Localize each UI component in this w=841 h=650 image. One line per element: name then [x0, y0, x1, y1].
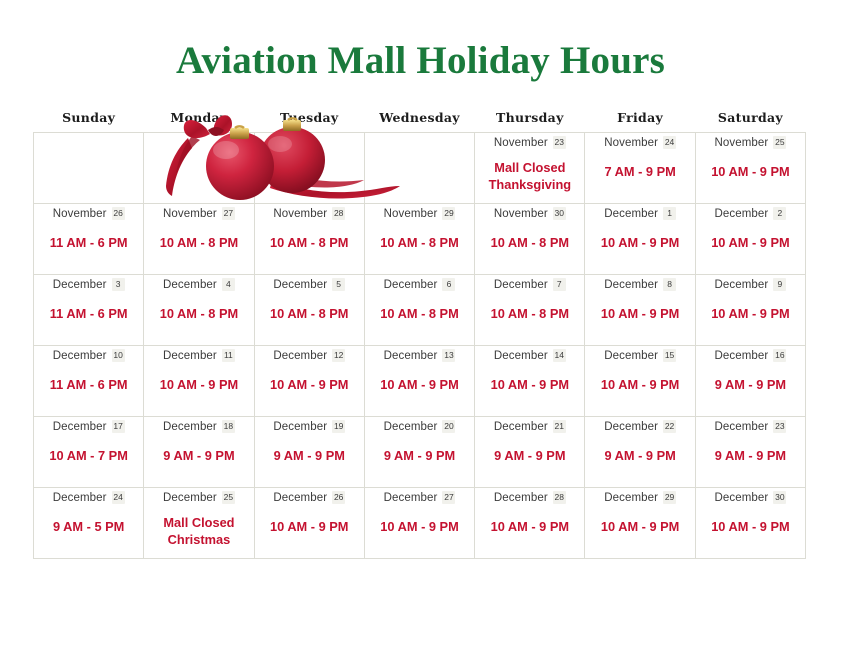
calendar-header: SundayMondayTuesdayWednesdayThursdayFrid…: [34, 110, 806, 133]
day-number-badge: 29: [663, 491, 676, 504]
day-cell-content: December219 AM - 9 PM: [475, 417, 584, 487]
calendar-day-cell: December810 AM - 9 PM: [585, 275, 695, 346]
day-number-badge: 30: [773, 491, 786, 504]
date-label-row: December9: [702, 280, 799, 292]
weekday-header-saturday: Saturday: [695, 110, 805, 133]
day-number-badge: 12: [332, 349, 345, 362]
day-number-badge: 11: [222, 349, 235, 362]
month-name: December: [273, 351, 327, 363]
day-number-badge: 16: [773, 349, 786, 362]
hours-line: 10 AM - 8 PM: [481, 305, 578, 322]
month-name: December: [494, 422, 548, 434]
store-hours: 10 AM - 9 PM: [261, 376, 358, 393]
calendar-day-cell: November2810 AM - 8 PM: [254, 204, 364, 275]
month-name: December: [494, 351, 548, 363]
day-number-badge: 24: [112, 491, 125, 504]
store-hours: 10 AM - 9 PM: [702, 234, 799, 251]
calendar-day-cell: December311 AM - 6 PM: [34, 275, 144, 346]
calendar-day-cell: November2710 AM - 8 PM: [144, 204, 254, 275]
day-number-badge: 23: [773, 420, 786, 433]
closed-notice: Mall ClosedChristmas: [150, 514, 247, 550]
date-label-row: November25: [702, 138, 799, 150]
hours-line: 10 AM - 9 PM: [702, 234, 799, 251]
month-name: December: [163, 351, 217, 363]
month-name: November: [53, 209, 107, 221]
day-cell-content: December1510 AM - 9 PM: [585, 346, 694, 416]
hours-line: 10 AM - 8 PM: [481, 234, 578, 251]
calendar-day-cell: December1110 AM - 9 PM: [144, 346, 254, 417]
day-cell-content: December311 AM - 6 PM: [34, 275, 143, 345]
day-number-badge: 26: [332, 491, 345, 504]
day-number-badge: 27: [222, 207, 235, 220]
closed-notice: Mall ClosedThanksgiving: [481, 159, 578, 195]
day-cell-content: [255, 133, 364, 203]
calendar-day-cell: December1011 AM - 6 PM: [34, 346, 144, 417]
date-label-row: November30: [481, 209, 578, 221]
date-label-row: December7: [481, 280, 578, 292]
day-number-badge: 22: [663, 420, 676, 433]
day-number-badge: 13: [442, 349, 455, 362]
calendar-day-cell: December110 AM - 9 PM: [585, 204, 695, 275]
hours-line: Mall Closed: [481, 159, 578, 177]
date-label-row: December19: [261, 422, 358, 434]
month-name: December: [494, 280, 548, 292]
hours-line: 9 AM - 9 PM: [481, 447, 578, 464]
day-number-badge: 18: [222, 420, 235, 433]
date-label-row: November24: [591, 138, 688, 150]
day-number-badge: 25: [222, 491, 235, 504]
date-label-row: December6: [371, 280, 468, 292]
hours-line: 9 AM - 9 PM: [702, 376, 799, 393]
page-title: Aviation Mall Holiday Hours: [0, 38, 841, 83]
date-label-row: December13: [371, 351, 468, 363]
hours-line: 9 AM - 9 PM: [150, 447, 247, 464]
hours-line: 11 AM - 6 PM: [40, 234, 137, 251]
hours-line: 11 AM - 6 PM: [40, 305, 137, 322]
month-name: November: [273, 209, 327, 221]
hours-line: 10 AM - 9 PM: [261, 376, 358, 393]
day-number-badge: 6: [442, 278, 455, 291]
hours-line: 10 AM - 9 PM: [261, 518, 358, 535]
month-name: December: [604, 280, 658, 292]
store-hours: 10 AM - 8 PM: [371, 234, 468, 251]
hours-line: 10 AM - 9 PM: [371, 518, 468, 535]
store-hours: 9 AM - 9 PM: [702, 447, 799, 464]
month-name: December: [273, 280, 327, 292]
date-label-row: December26: [261, 493, 358, 505]
date-label-row: December11: [150, 351, 247, 363]
hours-line: 10 AM - 9 PM: [481, 518, 578, 535]
weekday-header-tuesday: Tuesday: [254, 110, 364, 133]
calendar-day-cell: December1510 AM - 9 PM: [585, 346, 695, 417]
day-number-badge: 2: [773, 207, 786, 220]
store-hours: 10 AM - 8 PM: [371, 305, 468, 322]
hours-line: 9 AM - 9 PM: [591, 447, 688, 464]
date-label-row: December23: [702, 422, 799, 434]
store-hours: 9 AM - 9 PM: [261, 447, 358, 464]
day-cell-content: December1110 AM - 9 PM: [144, 346, 253, 416]
calendar-week-row: November2611 AM - 6 PMNovember2710 AM - …: [34, 204, 806, 275]
month-name: December: [715, 280, 769, 292]
store-hours: 10 AM - 8 PM: [150, 234, 247, 251]
month-name: December: [273, 493, 327, 505]
day-cell-content: December2710 AM - 9 PM: [365, 488, 474, 558]
day-number-badge: 19: [332, 420, 345, 433]
day-number-badge: 14: [553, 349, 566, 362]
store-hours: 10 AM - 9 PM: [702, 163, 799, 180]
store-hours: 9 AM - 9 PM: [591, 447, 688, 464]
store-hours: 10 AM - 9 PM: [371, 376, 468, 393]
calendar-day-cell: December1410 AM - 9 PM: [475, 346, 585, 417]
month-name: December: [163, 493, 217, 505]
store-hours: 10 AM - 7 PM: [40, 447, 137, 464]
day-number-badge: 17: [112, 420, 125, 433]
day-number-badge: 26: [112, 207, 125, 220]
day-number-badge: 21: [553, 420, 566, 433]
day-cell-content: December209 AM - 9 PM: [365, 417, 474, 487]
calendar-day-cell: December209 AM - 9 PM: [364, 417, 474, 488]
hours-line: 10 AM - 9 PM: [702, 518, 799, 535]
date-label-row: December8: [591, 280, 688, 292]
hours-line: 11 AM - 6 PM: [40, 376, 137, 393]
month-name: December: [273, 422, 327, 434]
calendar-day-cell: December410 AM - 8 PM: [144, 275, 254, 346]
month-name: December: [163, 422, 217, 434]
day-cell-content: December210 AM - 9 PM: [696, 204, 805, 274]
holiday-hours-calendar: SundayMondayTuesdayWednesdayThursdayFrid…: [33, 110, 806, 559]
date-label-row: November29: [371, 209, 468, 221]
hours-line: Thanksgiving: [481, 176, 578, 194]
day-number-badge: 5: [332, 278, 345, 291]
hours-line: 10 AM - 9 PM: [702, 305, 799, 322]
calendar-day-cell: December3010 AM - 9 PM: [695, 488, 805, 559]
store-hours: 10 AM - 9 PM: [481, 376, 578, 393]
day-cell-content: November2810 AM - 8 PM: [255, 204, 364, 274]
calendar-day-cell: December2610 AM - 9 PM: [254, 488, 364, 559]
date-label-row: December14: [481, 351, 578, 363]
store-hours: 10 AM - 9 PM: [591, 234, 688, 251]
hours-line: 10 AM - 8 PM: [150, 234, 247, 251]
store-hours: 10 AM - 9 PM: [702, 518, 799, 535]
day-cell-content: December3010 AM - 9 PM: [696, 488, 805, 558]
day-number-badge: 9: [773, 278, 786, 291]
hours-line: 10 AM - 9 PM: [591, 234, 688, 251]
day-number-badge: 24: [663, 136, 676, 149]
calendar-day-cell: December510 AM - 8 PM: [254, 275, 364, 346]
day-number-badge: 23: [553, 136, 566, 149]
date-label-row: December21: [481, 422, 578, 434]
calendar-body: November23Mall ClosedThanksgivingNovembe…: [34, 133, 806, 559]
calendar-cell-empty: [254, 133, 364, 204]
day-cell-content: December1210 AM - 9 PM: [255, 346, 364, 416]
day-cell-content: December410 AM - 8 PM: [144, 275, 253, 345]
month-name: December: [715, 209, 769, 221]
store-hours: 9 AM - 9 PM: [702, 376, 799, 393]
store-hours: 10 AM - 8 PM: [150, 305, 247, 322]
day-number-badge: 28: [332, 207, 345, 220]
day-cell-content: December1410 AM - 9 PM: [475, 346, 584, 416]
day-cell-content: December1710 AM - 7 PM: [34, 417, 143, 487]
month-name: November: [715, 138, 769, 150]
month-name: December: [53, 280, 107, 292]
store-hours: 10 AM - 9 PM: [261, 518, 358, 535]
calendar-day-cell: December910 AM - 9 PM: [695, 275, 805, 346]
day-cell-content: December510 AM - 8 PM: [255, 275, 364, 345]
month-name: December: [604, 493, 658, 505]
day-cell-content: December610 AM - 8 PM: [365, 275, 474, 345]
hours-line: 10 AM - 9 PM: [591, 518, 688, 535]
day-number-badge: 8: [663, 278, 676, 291]
date-label-row: December5: [261, 280, 358, 292]
store-hours: 10 AM - 8 PM: [261, 234, 358, 251]
store-hours: 10 AM - 9 PM: [591, 305, 688, 322]
day-cell-content: December910 AM - 9 PM: [696, 275, 805, 345]
date-label-row: December18: [150, 422, 247, 434]
month-name: November: [494, 138, 548, 150]
calendar-day-cell: December199 AM - 9 PM: [254, 417, 364, 488]
hours-line: 10 AM - 9 PM: [481, 376, 578, 393]
calendar-day-cell: December2810 AM - 9 PM: [475, 488, 585, 559]
month-name: December: [53, 493, 107, 505]
month-name: December: [163, 280, 217, 292]
calendar-day-cell: November3010 AM - 8 PM: [475, 204, 585, 275]
day-cell-content: December2610 AM - 9 PM: [255, 488, 364, 558]
store-hours: 10 AM - 9 PM: [150, 376, 247, 393]
store-hours: 11 AM - 6 PM: [40, 305, 137, 322]
month-name: November: [604, 138, 658, 150]
calendar-day-cell: December210 AM - 9 PM: [695, 204, 805, 275]
day-cell-content: November247 AM - 9 PM: [585, 133, 694, 203]
hours-line: 9 AM - 9 PM: [702, 447, 799, 464]
store-hours: 9 AM - 9 PM: [481, 447, 578, 464]
calendar-cell-empty: [34, 133, 144, 204]
day-cell-content: December189 AM - 9 PM: [144, 417, 253, 487]
calendar-day-cell: December2710 AM - 9 PM: [364, 488, 474, 559]
date-label-row: December3: [40, 280, 137, 292]
calendar-day-cell: December169 AM - 9 PM: [695, 346, 805, 417]
day-number-badge: 4: [222, 278, 235, 291]
month-name: November: [494, 209, 548, 221]
date-label-row: December4: [150, 280, 247, 292]
month-name: December: [604, 209, 658, 221]
day-cell-content: December229 AM - 9 PM: [585, 417, 694, 487]
month-name: November: [384, 209, 438, 221]
month-name: December: [384, 280, 438, 292]
date-label-row: December10: [40, 351, 137, 363]
date-label-row: December20: [371, 422, 468, 434]
month-name: December: [715, 422, 769, 434]
hours-line: Mall Closed: [150, 514, 247, 532]
month-name: December: [384, 422, 438, 434]
day-cell-content: December810 AM - 9 PM: [585, 275, 694, 345]
month-name: December: [53, 351, 107, 363]
hours-line: 9 AM - 5 PM: [40, 518, 137, 535]
store-hours: 7 AM - 9 PM: [591, 163, 688, 180]
month-name: December: [384, 493, 438, 505]
store-hours: 10 AM - 9 PM: [481, 518, 578, 535]
day-number-badge: 7: [553, 278, 566, 291]
day-number-badge: 29: [442, 207, 455, 220]
day-cell-content: November2710 AM - 8 PM: [144, 204, 253, 274]
calendar-week-row: December249 AM - 5 PMDecember25Mall Clos…: [34, 488, 806, 559]
hours-line: 10 AM - 8 PM: [371, 305, 468, 322]
calendar-cell-empty: [364, 133, 474, 204]
hours-line: 10 AM - 7 PM: [40, 447, 137, 464]
store-hours: 11 AM - 6 PM: [40, 376, 137, 393]
calendar-day-cell: December1210 AM - 9 PM: [254, 346, 364, 417]
hours-line: 9 AM - 9 PM: [371, 447, 468, 464]
hours-line: 10 AM - 8 PM: [371, 234, 468, 251]
calendar-day-cell: December25Mall ClosedChristmas: [144, 488, 254, 559]
day-cell-content: November2910 AM - 8 PM: [365, 204, 474, 274]
month-name: December: [384, 351, 438, 363]
month-name: December: [53, 422, 107, 434]
date-label-row: December30: [702, 493, 799, 505]
hours-line: 10 AM - 8 PM: [261, 234, 358, 251]
date-label-row: December12: [261, 351, 358, 363]
weekday-header-row: SundayMondayTuesdayWednesdayThursdayFrid…: [34, 110, 806, 133]
calendar-day-cell: November2510 AM - 9 PM: [695, 133, 805, 204]
calendar-container: SundayMondayTuesdayWednesdayThursdayFrid…: [33, 110, 805, 559]
weekday-header-monday: Monday: [144, 110, 254, 133]
hours-line: 10 AM - 9 PM: [591, 376, 688, 393]
month-name: December: [494, 493, 548, 505]
day-number-badge: 20: [442, 420, 455, 433]
store-hours: 10 AM - 9 PM: [702, 305, 799, 322]
day-cell-content: December710 AM - 8 PM: [475, 275, 584, 345]
month-name: November: [163, 209, 217, 221]
calendar-week-row: December1710 AM - 7 PMDecember189 AM - 9…: [34, 417, 806, 488]
calendar-week-row: December1011 AM - 6 PMDecember1110 AM - …: [34, 346, 806, 417]
hours-line: 10 AM - 9 PM: [591, 305, 688, 322]
calendar-day-cell: November2910 AM - 8 PM: [364, 204, 474, 275]
day-cell-content: [144, 133, 253, 203]
day-number-badge: 27: [442, 491, 455, 504]
weekday-header-thursday: Thursday: [475, 110, 585, 133]
date-label-row: December27: [371, 493, 468, 505]
month-name: December: [604, 422, 658, 434]
day-number-badge: 28: [553, 491, 566, 504]
date-label-row: December22: [591, 422, 688, 434]
day-number-badge: 25: [773, 136, 786, 149]
calendar-day-cell: December219 AM - 9 PM: [475, 417, 585, 488]
calendar-week-row: December311 AM - 6 PMDecember410 AM - 8 …: [34, 275, 806, 346]
store-hours: 10 AM - 9 PM: [591, 376, 688, 393]
store-hours: 10 AM - 8 PM: [481, 305, 578, 322]
hours-line: Christmas: [150, 531, 247, 549]
store-hours: 9 AM - 5 PM: [40, 518, 137, 535]
calendar-day-cell: December710 AM - 8 PM: [475, 275, 585, 346]
hours-line: 7 AM - 9 PM: [591, 163, 688, 180]
day-cell-content: [365, 133, 474, 203]
store-hours: 11 AM - 6 PM: [40, 234, 137, 251]
store-hours: 10 AM - 9 PM: [591, 518, 688, 535]
hours-line: 10 AM - 9 PM: [150, 376, 247, 393]
day-number-badge: 30: [553, 207, 566, 220]
date-label-row: November23: [481, 138, 578, 150]
weekday-header-wednesday: Wednesday: [364, 110, 474, 133]
day-cell-content: December2910 AM - 9 PM: [585, 488, 694, 558]
calendar-day-cell: December610 AM - 8 PM: [364, 275, 474, 346]
date-label-row: December28: [481, 493, 578, 505]
store-hours: 10 AM - 9 PM: [371, 518, 468, 535]
day-number-badge: 1: [663, 207, 676, 220]
day-cell-content: November23Mall ClosedThanksgiving: [475, 133, 584, 203]
calendar-day-cell: December239 AM - 9 PM: [695, 417, 805, 488]
calendar-day-cell: December229 AM - 9 PM: [585, 417, 695, 488]
calendar-day-cell: December1310 AM - 9 PM: [364, 346, 474, 417]
date-label-row: November27: [150, 209, 247, 221]
calendar-day-cell: November23Mall ClosedThanksgiving: [475, 133, 585, 204]
date-label-row: December25: [150, 493, 247, 505]
date-label-row: December29: [591, 493, 688, 505]
day-cell-content: November3010 AM - 8 PM: [475, 204, 584, 274]
store-hours: 10 AM - 8 PM: [481, 234, 578, 251]
day-cell-content: December169 AM - 9 PM: [696, 346, 805, 416]
day-cell-content: [34, 133, 143, 203]
date-label-row: November26: [40, 209, 137, 221]
calendar-cell-empty: [144, 133, 254, 204]
store-hours: 9 AM - 9 PM: [150, 447, 247, 464]
hours-line: 10 AM - 9 PM: [702, 163, 799, 180]
day-cell-content: December1310 AM - 9 PM: [365, 346, 474, 416]
calendar-day-cell: December249 AM - 5 PM: [34, 488, 144, 559]
month-name: December: [604, 351, 658, 363]
hours-line: 10 AM - 9 PM: [371, 376, 468, 393]
weekday-header-sunday: Sunday: [34, 110, 144, 133]
day-cell-content: December239 AM - 9 PM: [696, 417, 805, 487]
day-cell-content: December25Mall ClosedChristmas: [144, 488, 253, 558]
calendar-week-row: November23Mall ClosedThanksgivingNovembe…: [34, 133, 806, 204]
hours-line: 10 AM - 8 PM: [261, 305, 358, 322]
date-label-row: November28: [261, 209, 358, 221]
store-hours: 9 AM - 9 PM: [371, 447, 468, 464]
hours-line: 9 AM - 9 PM: [261, 447, 358, 464]
month-name: December: [715, 493, 769, 505]
calendar-day-cell: December189 AM - 9 PM: [144, 417, 254, 488]
calendar-day-cell: November2611 AM - 6 PM: [34, 204, 144, 275]
calendar-day-cell: November247 AM - 9 PM: [585, 133, 695, 204]
day-number-badge: 3: [112, 278, 125, 291]
calendar-day-cell: December2910 AM - 9 PM: [585, 488, 695, 559]
day-cell-content: November2611 AM - 6 PM: [34, 204, 143, 274]
date-label-row: December16: [702, 351, 799, 363]
month-name: December: [715, 351, 769, 363]
date-label-row: December15: [591, 351, 688, 363]
date-label-row: December2: [702, 209, 799, 221]
day-cell-content: December110 AM - 9 PM: [585, 204, 694, 274]
day-cell-content: December1011 AM - 6 PM: [34, 346, 143, 416]
date-label-row: December1: [591, 209, 688, 221]
day-cell-content: December249 AM - 5 PM: [34, 488, 143, 558]
date-label-row: December24: [40, 493, 137, 505]
day-cell-content: November2510 AM - 9 PM: [696, 133, 805, 203]
holiday-hours-page: Aviation Mall Holiday Hours SundayMonday…: [0, 0, 841, 650]
store-hours: 10 AM - 8 PM: [261, 305, 358, 322]
day-cell-content: December199 AM - 9 PM: [255, 417, 364, 487]
day-number-badge: 10: [112, 349, 125, 362]
calendar-day-cell: December1710 AM - 7 PM: [34, 417, 144, 488]
day-number-badge: 15: [663, 349, 676, 362]
day-cell-content: December2810 AM - 9 PM: [475, 488, 584, 558]
date-label-row: December17: [40, 422, 137, 434]
hours-line: 10 AM - 8 PM: [150, 305, 247, 322]
weekday-header-friday: Friday: [585, 110, 695, 133]
